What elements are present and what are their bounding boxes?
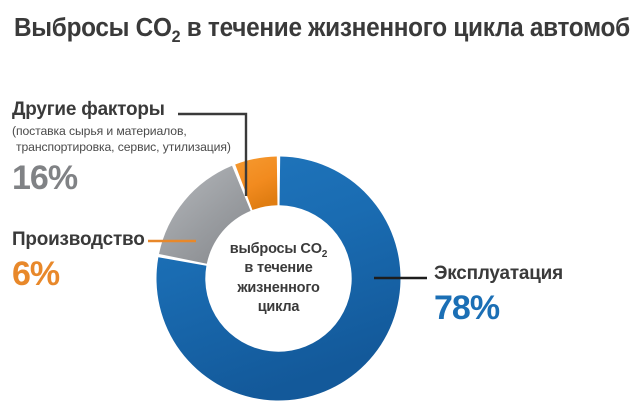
label-other-factors-title: Другие факторы (12, 98, 264, 121)
label-other-factors-note-line1: (поставка сырья и материалов, (12, 124, 187, 138)
label-operation-title: Эксплуатация (434, 262, 618, 285)
label-other-factors-percent: 16% (12, 161, 272, 195)
label-production-title: Производство (12, 228, 235, 251)
page-title-text-after: в течение жизненного цикла автомобиля (180, 14, 630, 42)
infographic-root: Выбросы CO2 в течение жизненного цикла а… (0, 0, 630, 417)
label-other-factors-note: (поставка сырья и материалов, транспорти… (12, 124, 272, 155)
page-title: Выбросы CO2 в течение жизненного цикла а… (14, 14, 597, 42)
label-other-factors: Другие факторы (поставка сырья и материа… (12, 98, 272, 195)
page-title-subscript: 2 (172, 27, 181, 46)
label-other-factors-note-line2: транспортировка, сервис, утилизация) (12, 140, 272, 156)
label-operation: Эксплуатация 78% (434, 262, 624, 325)
label-production-percent: 6% (12, 257, 242, 291)
label-production: Производство 6% (12, 228, 242, 291)
label-operation-percent: 78% (434, 291, 624, 325)
page-title-text-before: Выбросы CO (14, 14, 172, 42)
